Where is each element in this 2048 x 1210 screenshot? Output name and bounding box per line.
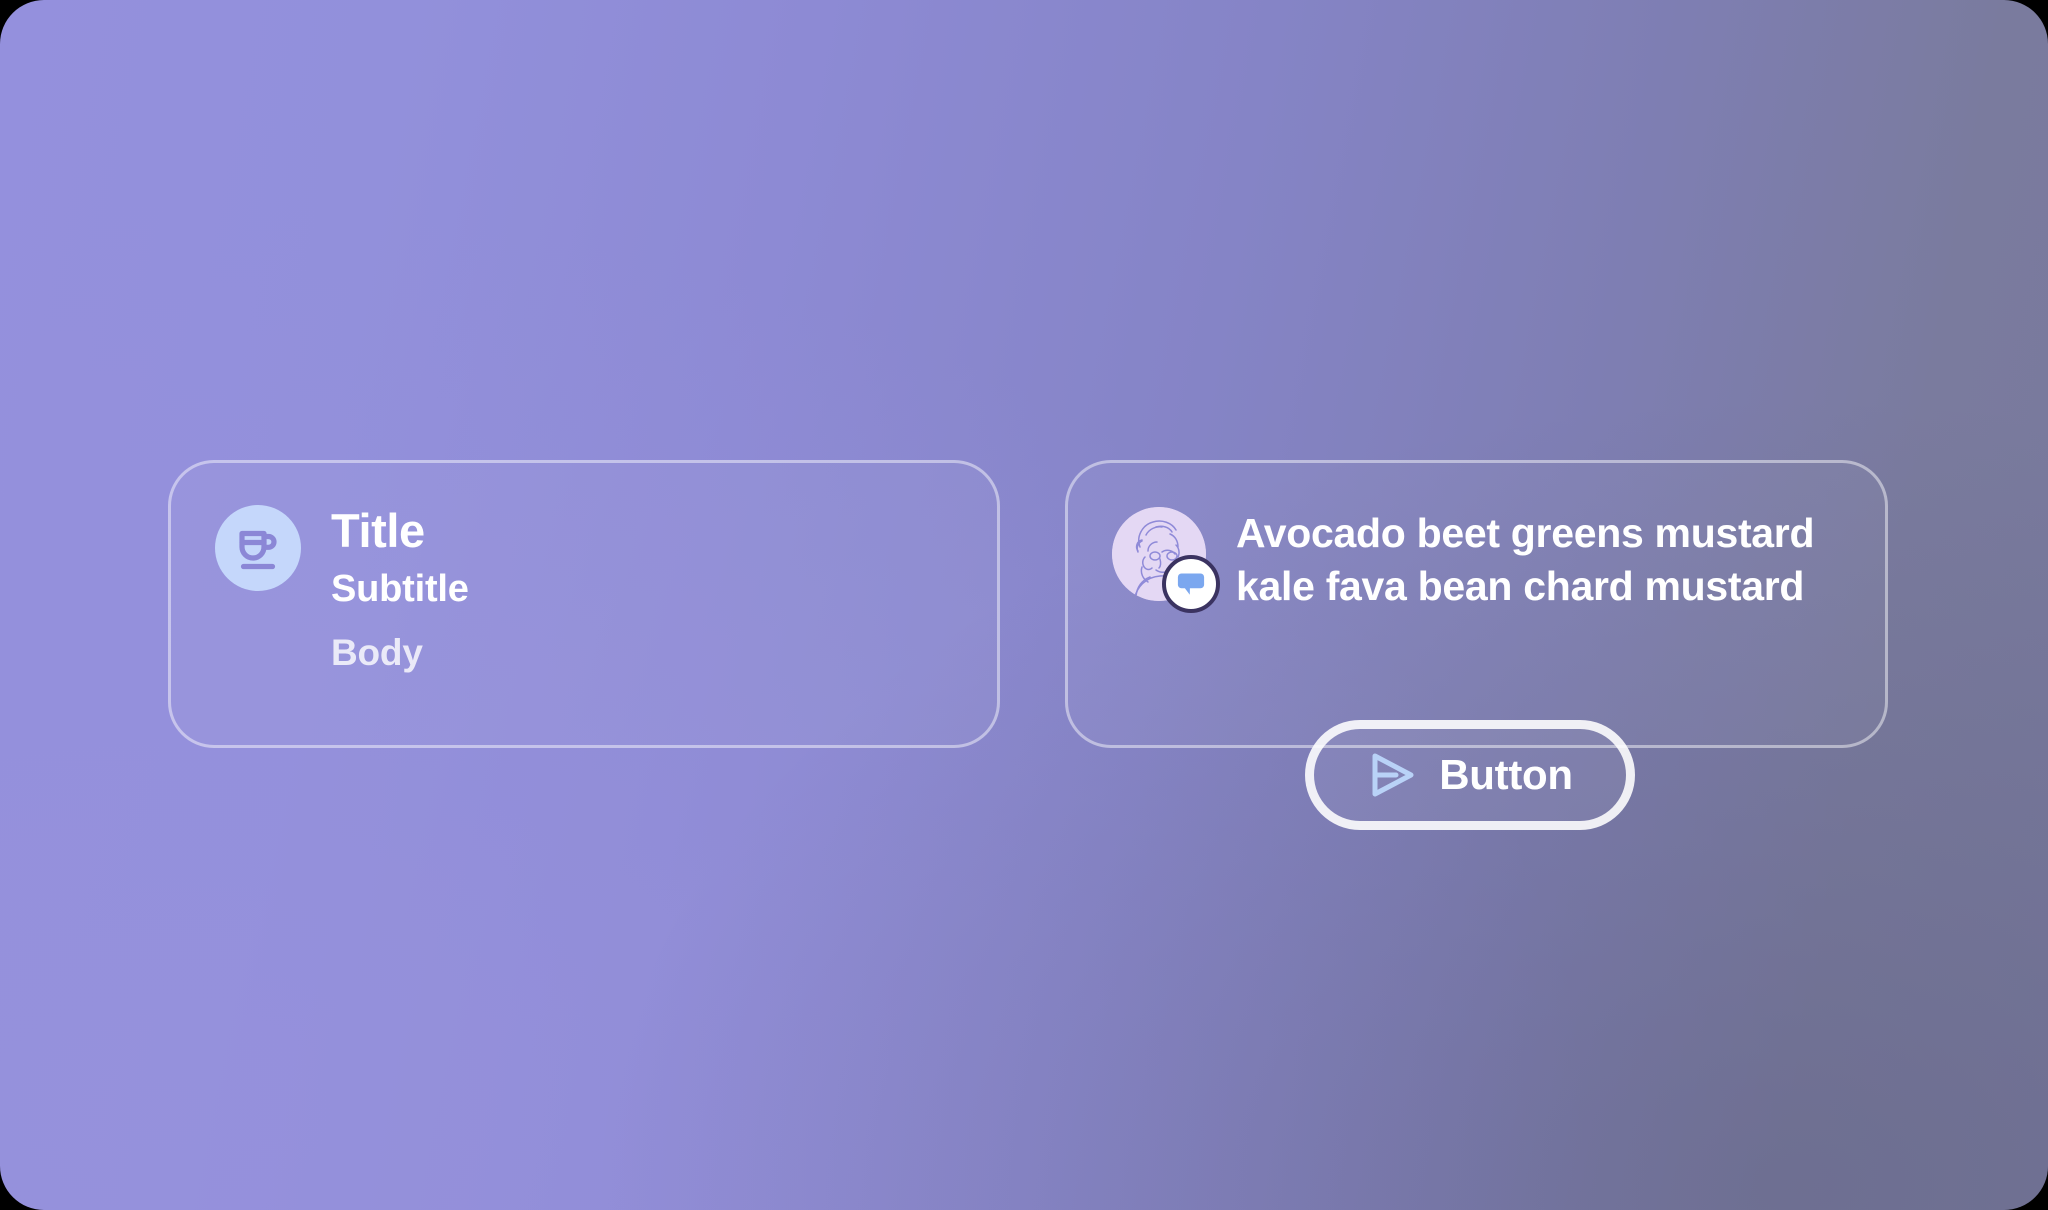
card-subtitle: Subtitle	[331, 564, 469, 614]
basic-card-text-block: Title Subtitle Body	[331, 501, 469, 677]
send-button-label: Button	[1439, 751, 1572, 799]
cards-row: Title Subtitle Body	[0, 460, 2048, 750]
screen-canvas: Title Subtitle Body	[0, 0, 2048, 1210]
card-body: Body	[331, 629, 469, 677]
avatar-card[interactable]: Avocado beet greens mustard kale fava be…	[1065, 460, 1888, 748]
card-title: Title	[331, 503, 469, 558]
chat-bubble-icon	[1162, 555, 1220, 613]
basic-card[interactable]: Title Subtitle Body	[168, 460, 1000, 748]
avatar-card-text: Avocado beet greens mustard kale fava be…	[1236, 503, 1836, 614]
send-button[interactable]: Button	[1305, 720, 1635, 830]
send-triangle-icon	[1367, 750, 1417, 800]
coffee-cup-icon	[215, 505, 301, 591]
avatar[interactable]	[1112, 507, 1206, 601]
